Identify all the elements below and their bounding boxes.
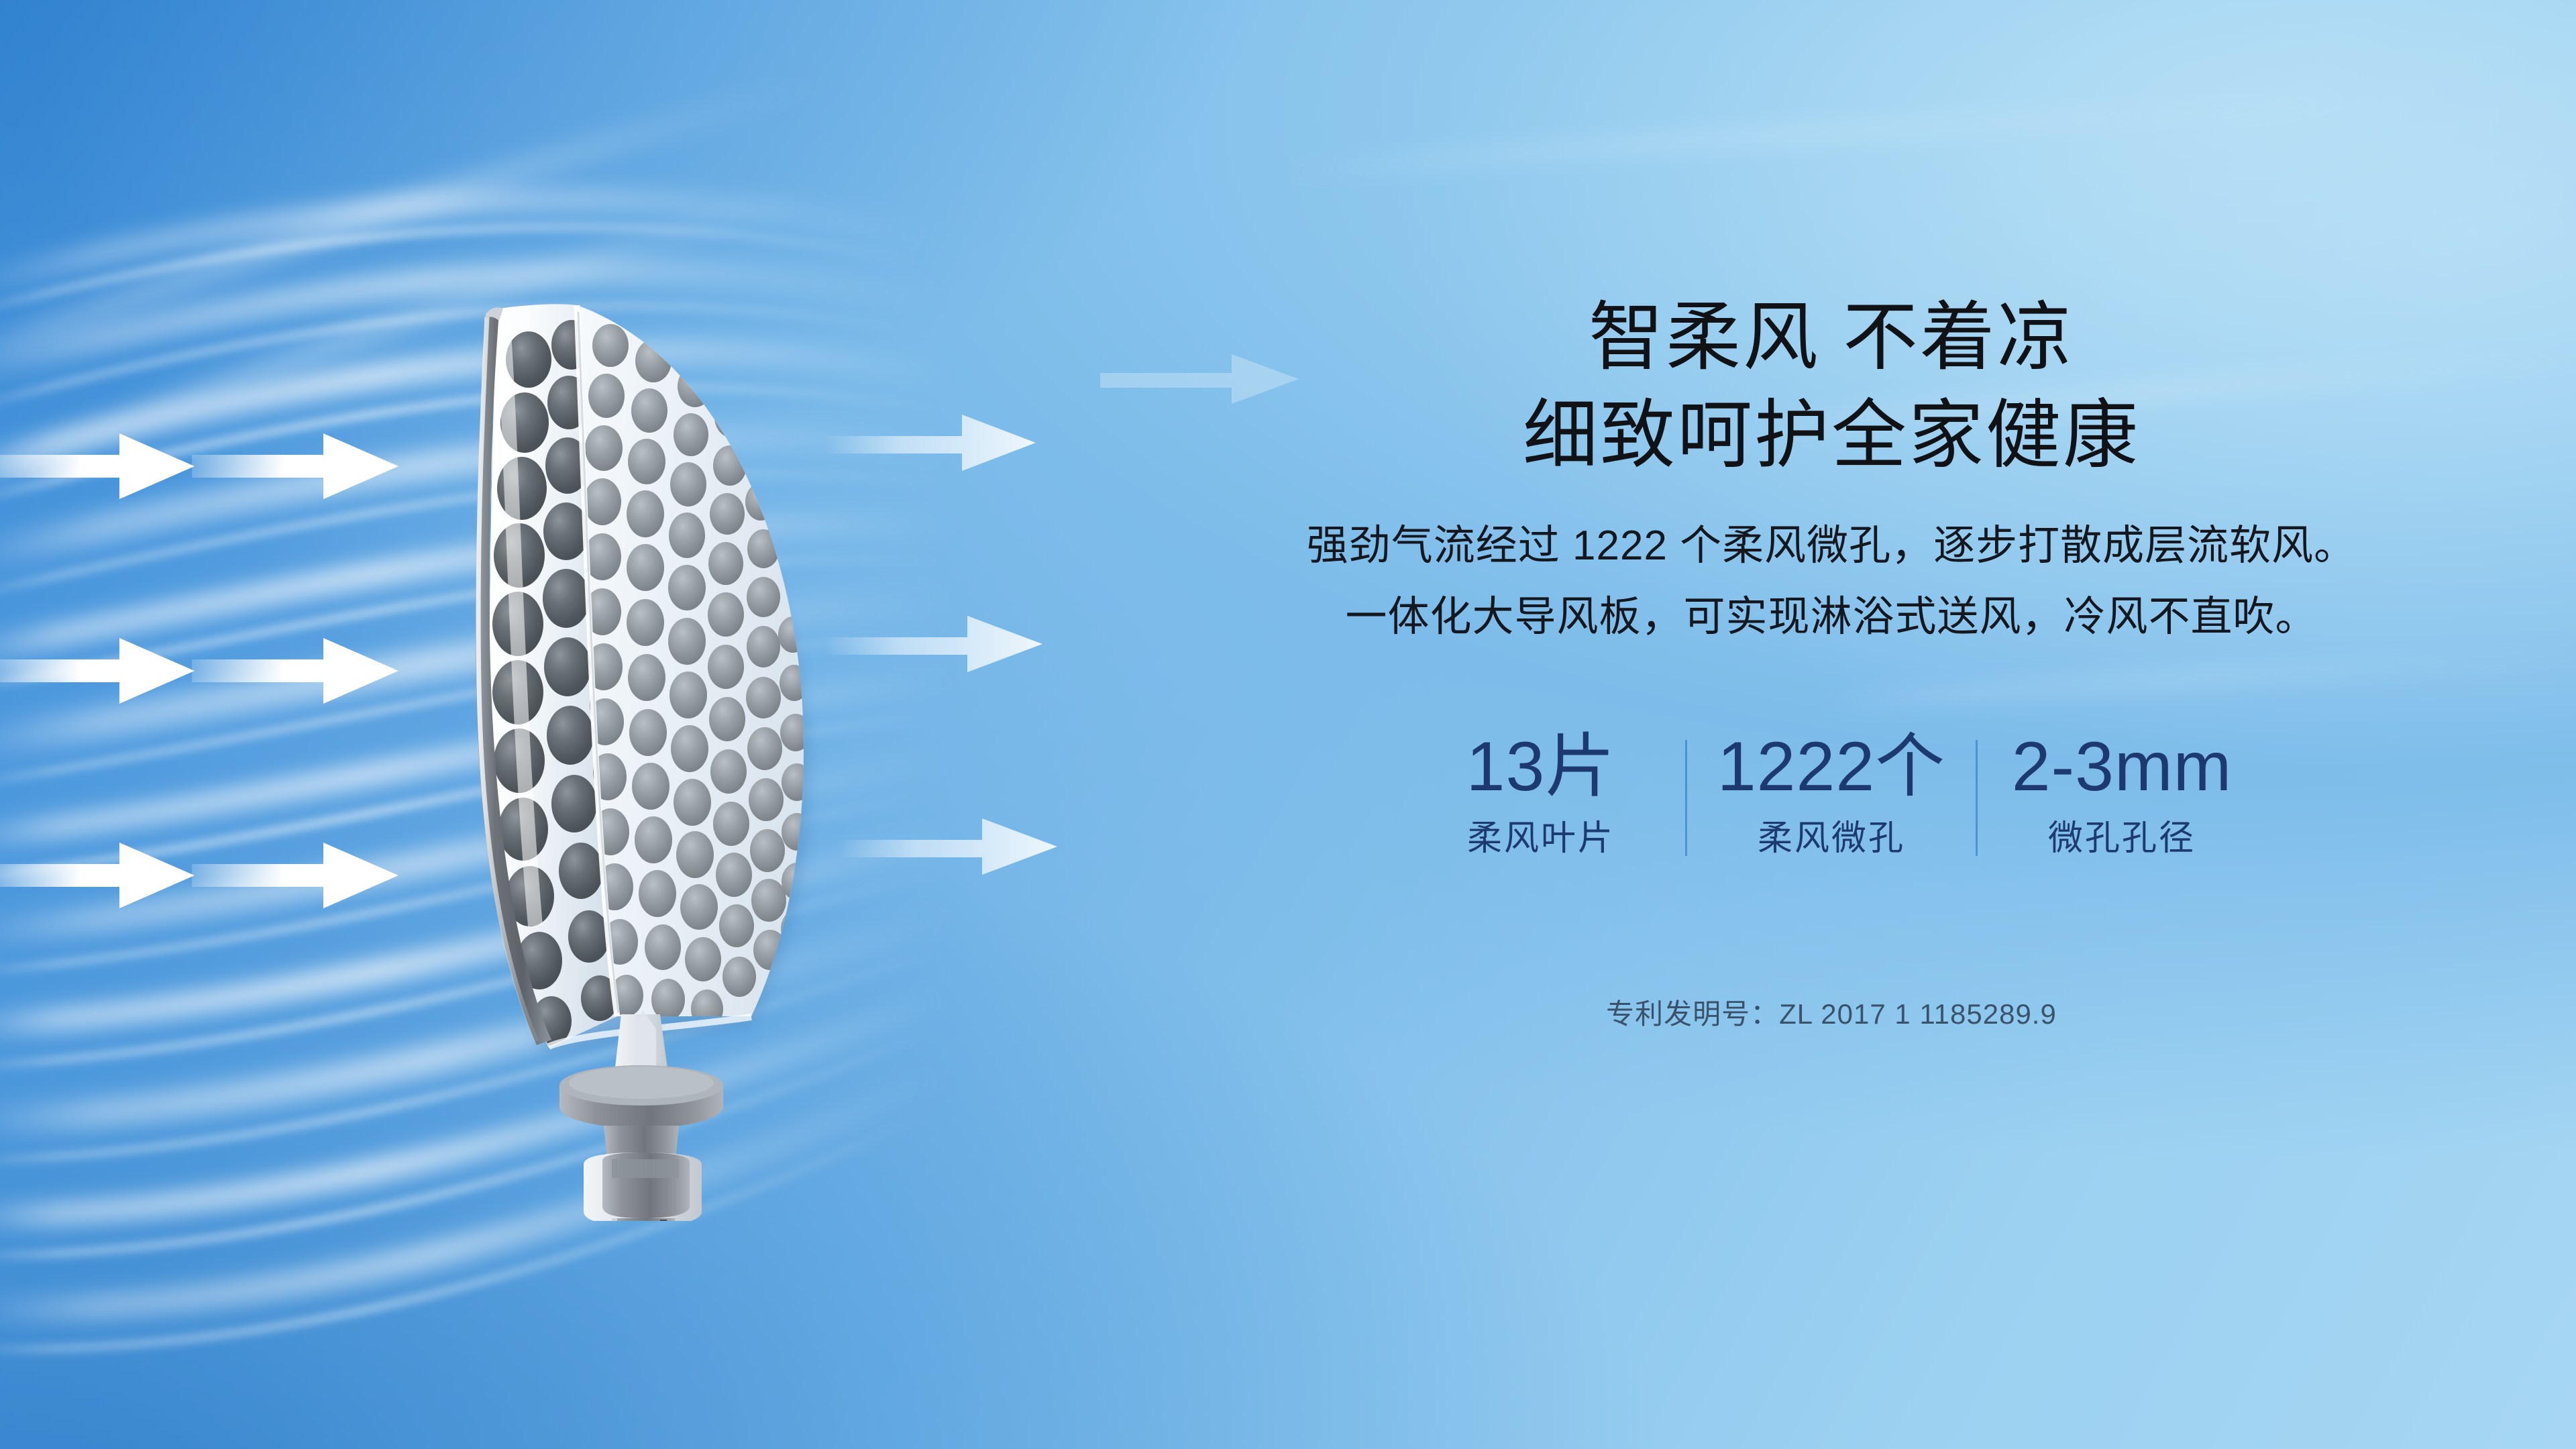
copy-panel: 智柔风不着凉 细致呵护全家健康 强劲气流经过 1222 个柔风微孔，逐步打散成层… [1181, 288, 2482, 1032]
headline-part-b: 不着凉 [1843, 295, 2074, 379]
headline-line-2: 细致呵护全家健康 [1181, 386, 2482, 484]
stat-blades-value: 13片 [1466, 731, 1616, 803]
inlet-arrow-row3-col2 [192, 839, 400, 912]
stat-divider-1 [1685, 740, 1687, 856]
inlet-arrow-row1-col1 [0, 429, 196, 503]
stat-blades-label: 柔风叶片 [1467, 818, 1615, 859]
stat-micro-holes: 1222个 柔风微孔 [1687, 731, 1976, 860]
subcopy-line-2: 一体化大导风板，可实现淋浴式送风，冷风不直吹。 [1181, 584, 2482, 650]
inlet-arrow-row1-col2 [192, 429, 400, 503]
perforated-blade-illustration [376, 201, 872, 1221]
stat-micro-holes-value: 1222个 [1717, 731, 1945, 803]
headline-line-1: 智柔风不着凉 [1181, 288, 2482, 386]
stat-blades: 13片 柔风叶片 [1397, 731, 1685, 860]
subcopy-line-1: 强劲气流经过 1222 个柔风微孔，逐步打散成层流软风。 [1181, 513, 2482, 579]
stat-hole-diameter: 2-3mm 微孔孔径 [1978, 731, 2266, 860]
stat-hole-diameter-label: 微孔孔径 [2048, 818, 2196, 859]
stat-divider-2 [1976, 740, 1978, 856]
spec-stats-row: 13片 柔风叶片 1222个 柔风微孔 2-3mm 微孔孔径 [1181, 731, 2482, 860]
stat-hole-diameter-value: 2-3mm [2012, 731, 2233, 803]
marketing-banner: 智柔风不着凉 细致呵护全家健康 强劲气流经过 1222 个柔风微孔，逐步打散成层… [0, 0, 2576, 1449]
inlet-arrow-row2-col1 [0, 634, 196, 708]
inlet-arrow-row2-col2 [192, 634, 400, 708]
stat-micro-holes-label: 柔风微孔 [1758, 818, 1905, 859]
headline-part-a: 智柔风 [1589, 295, 1820, 379]
inlet-arrow-row3-col1 [0, 839, 196, 912]
patent-number: 专利发明号：ZL 2017 1 1185289.9 [1181, 991, 2482, 1032]
